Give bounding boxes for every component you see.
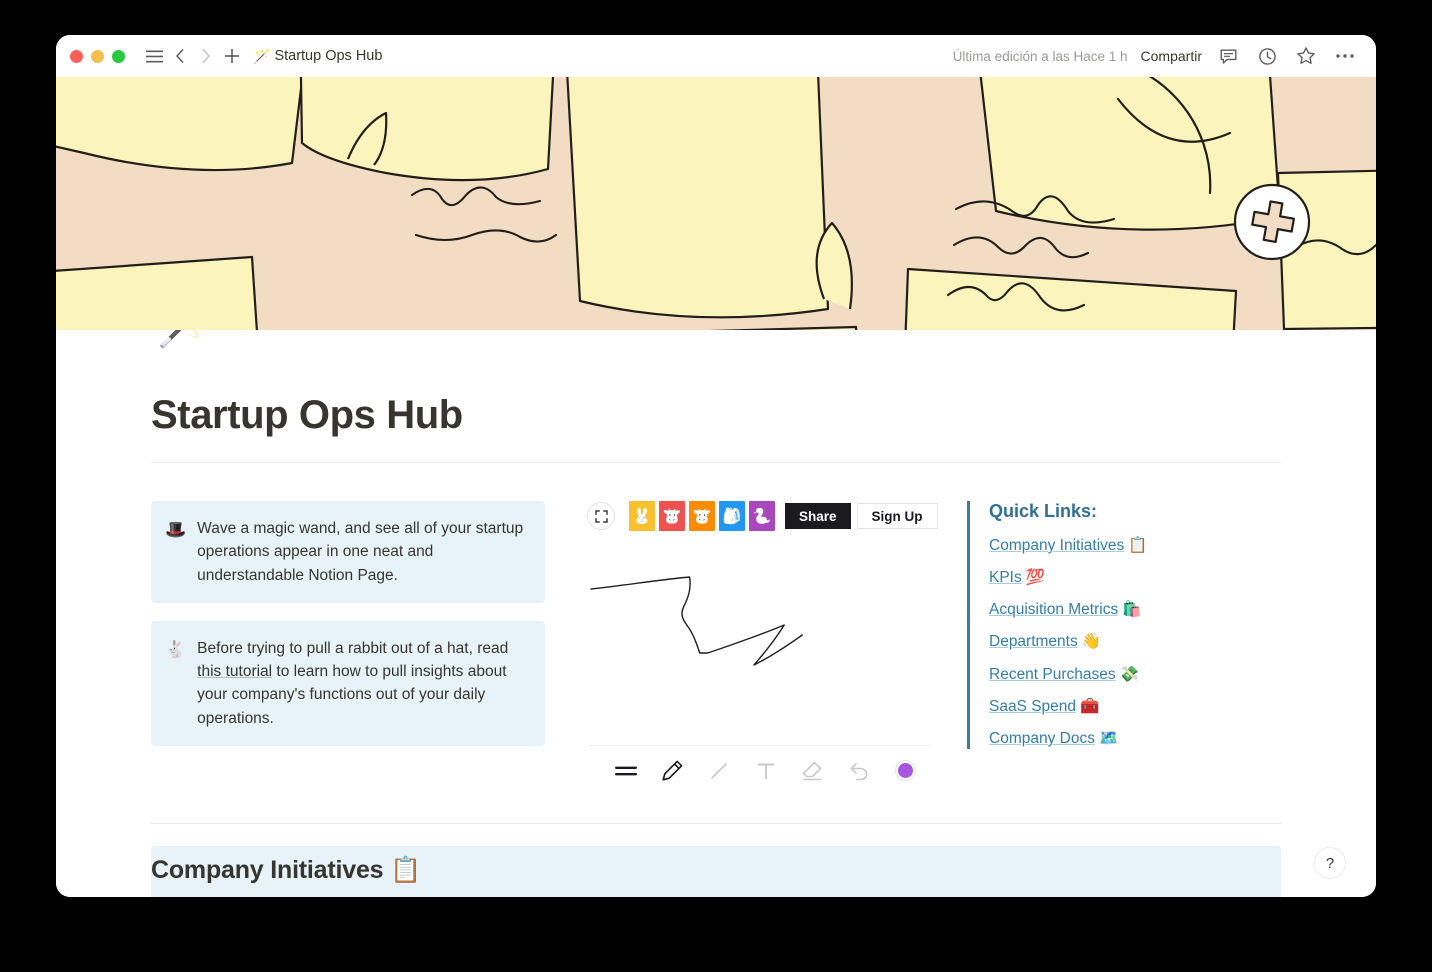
new-page-plus-icon[interactable] bbox=[219, 43, 245, 69]
page-title[interactable]: Startup Ops Hub bbox=[56, 330, 1376, 438]
quick-link-label: Acquisition Metrics bbox=[989, 601, 1118, 618]
quick-links-block: Quick Links: Company Initiatives📋 KPIs💯 … bbox=[967, 501, 1281, 749]
freehand-scribble bbox=[587, 547, 929, 745]
quick-link-label: Recent Purchases bbox=[989, 666, 1116, 683]
eraser-tool[interactable] bbox=[789, 751, 836, 791]
minimize-window-button[interactable] bbox=[91, 50, 104, 63]
comment-icon[interactable] bbox=[1215, 43, 1241, 69]
snake-icon: 🐍 bbox=[753, 507, 772, 525]
excalidraw-canvas[interactable] bbox=[587, 547, 929, 745]
share-button[interactable]: Compartir bbox=[1141, 48, 1202, 64]
forward-navigation-icon[interactable] bbox=[193, 43, 219, 69]
quick-link-label: Departments bbox=[989, 633, 1078, 650]
titlebar-page-title[interactable]: Startup Ops Hub bbox=[274, 48, 382, 64]
color-dot bbox=[896, 761, 915, 780]
hundred-points-icon: 💯 bbox=[1026, 569, 1045, 586]
callout-tutorial[interactable]: 🐇 Before trying to pull a rabbit out of … bbox=[151, 621, 545, 746]
collaborator-avatar[interactable]: 🐍 bbox=[749, 501, 775, 531]
stroke-color-swatch[interactable] bbox=[882, 751, 929, 791]
window-traffic-lights[interactable] bbox=[70, 50, 125, 63]
close-window-button[interactable] bbox=[70, 50, 83, 63]
quick-link-kpis[interactable]: KPIs💯 bbox=[989, 568, 1281, 588]
notion-window: 🪄 Startup Ops Hub Última edición a las H… bbox=[56, 35, 1376, 897]
quick-links-column: Quick Links: Company Initiatives📋 KPIs💯 … bbox=[967, 501, 1281, 761]
rabbit-icon: 🐇 bbox=[165, 637, 186, 730]
quick-links-title: Quick Links: bbox=[989, 501, 1281, 522]
tutorial-link[interactable]: this tutorial bbox=[197, 663, 272, 680]
rabbit-icon: 🐰 bbox=[633, 507, 652, 525]
selection-tool[interactable] bbox=[603, 751, 650, 791]
quick-link-label: Company Initiatives bbox=[989, 537, 1124, 554]
titlebar: 🪄 Startup Ops Hub Última edición a las H… bbox=[56, 35, 1376, 77]
waving-hand-icon: 👋 bbox=[1082, 633, 1101, 650]
excalidraw-toolbar bbox=[587, 745, 929, 795]
pen-tool[interactable] bbox=[650, 751, 697, 791]
collaborator-avatar[interactable]: 🎒 bbox=[719, 501, 745, 531]
collaborator-avatars: 🐰 🐮 🐮 🎒 bbox=[629, 501, 775, 531]
cow-icon: 🐮 bbox=[663, 507, 682, 525]
clipboard-icon: 📋 bbox=[1128, 537, 1147, 554]
star-icon[interactable] bbox=[1293, 43, 1319, 69]
page-body: 🪄 Startup Ops Hub 🎩 Wave a magic wand, a… bbox=[56, 330, 1376, 897]
collaborator-avatar[interactable]: 🐰 bbox=[629, 501, 655, 531]
section-divider bbox=[151, 823, 1281, 824]
quick-link-label: SaaS Spend bbox=[989, 698, 1076, 715]
collaborator-avatar[interactable]: 🐮 bbox=[659, 501, 685, 531]
titlebar-actions: Última edición a las Hace 1 h Compartir bbox=[953, 43, 1358, 69]
quick-link-label: KPIs bbox=[989, 569, 1022, 586]
back-navigation-icon[interactable] bbox=[167, 43, 193, 69]
quick-link-saas-spend[interactable]: SaaS Spend🧰 bbox=[989, 697, 1281, 717]
cover-illustration bbox=[56, 77, 1376, 330]
ellipsis-icon[interactable] bbox=[1332, 43, 1358, 69]
quick-link-recent-purchases[interactable]: Recent Purchases💸 bbox=[989, 665, 1281, 685]
section-heading: Company Initiatives 📋 bbox=[151, 856, 1281, 885]
zoom-window-button[interactable] bbox=[112, 50, 125, 63]
quick-link-label: Company Docs bbox=[989, 730, 1095, 747]
callout-text-before: Before trying to pull a rabbit out of a … bbox=[197, 640, 508, 657]
text-tool[interactable] bbox=[743, 751, 790, 791]
collaborator-avatar[interactable]: 🐮 bbox=[689, 501, 715, 531]
backpack-icon: 🎒 bbox=[723, 507, 742, 525]
quick-link-acquisition-metrics[interactable]: Acquisition Metrics🛍️ bbox=[989, 600, 1281, 620]
excalidraw-embed[interactable]: 🐰 🐮 🐮 🎒 bbox=[587, 501, 967, 795]
help-button[interactable]: ? bbox=[1314, 847, 1346, 879]
money-with-wings-icon: 💸 bbox=[1120, 666, 1139, 683]
excalidraw-share-button[interactable]: Share bbox=[785, 503, 851, 529]
callout-column: 🎩 Wave a magic wand, and see all of your… bbox=[151, 501, 587, 764]
shopping-bags-icon: 🛍️ bbox=[1122, 601, 1141, 618]
line-tool[interactable] bbox=[696, 751, 743, 791]
quick-link-departments[interactable]: Departments👋 bbox=[989, 632, 1281, 652]
section-heading-text: Company Initiatives bbox=[151, 856, 383, 884]
callout-text: Wave a magic wand, and see all of your s… bbox=[197, 517, 529, 587]
page-icon-emoji[interactable]: 🪄 bbox=[156, 330, 223, 346]
expand-icon[interactable] bbox=[587, 502, 615, 530]
excalidraw-topbar: 🐰 🐮 🐮 🎒 bbox=[587, 501, 929, 531]
titlebar-page-emoji: 🪄 bbox=[253, 48, 270, 65]
excalidraw-signup-button[interactable]: Sign Up bbox=[857, 503, 938, 529]
pushpin-badge bbox=[1235, 185, 1309, 259]
cow-icon: 🐮 bbox=[693, 507, 712, 525]
callout-magic-wand[interactable]: 🎩 Wave a magic wand, and see all of your… bbox=[151, 501, 545, 603]
page-cover-image[interactable] bbox=[56, 77, 1376, 330]
map-icon: 🗺️ bbox=[1099, 730, 1118, 747]
last-edited-label: Última edición a las Hace 1 h bbox=[953, 49, 1128, 64]
undo-tool[interactable] bbox=[836, 751, 883, 791]
toolbox-icon: 🧰 bbox=[1080, 698, 1099, 715]
callout-text: Before trying to pull a rabbit out of a … bbox=[197, 637, 529, 730]
section-company-initiatives[interactable]: Company Initiatives 📋 bbox=[151, 846, 1281, 897]
clock-icon[interactable] bbox=[1254, 43, 1280, 69]
sidebar-toggle-icon[interactable] bbox=[141, 43, 167, 69]
clipboard-icon: 📋 bbox=[390, 856, 421, 884]
quick-link-company-initiatives[interactable]: Company Initiatives📋 bbox=[989, 536, 1281, 556]
screenshot-stage: 🪄 Startup Ops Hub Última edición a las H… bbox=[0, 0, 1432, 972]
content-columns: 🎩 Wave a magic wand, and see all of your… bbox=[56, 463, 1376, 795]
top-hat-icon: 🎩 bbox=[165, 517, 186, 587]
quick-link-company-docs[interactable]: Company Docs🗺️ bbox=[989, 729, 1281, 749]
